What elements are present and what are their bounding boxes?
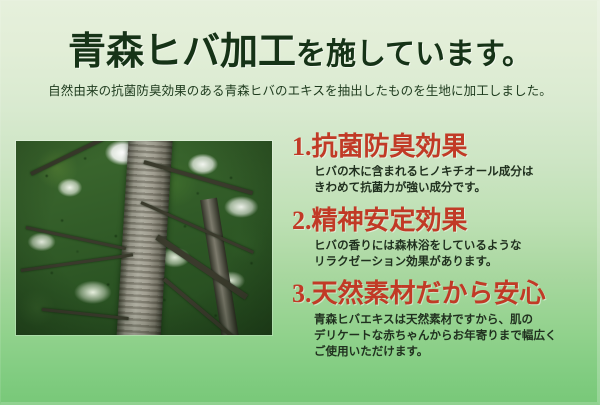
benefits-list: 1.抗菌防臭効果 ヒバの木に含まれるヒノキチオール成分は きわめて抗菌力が強い成… (292, 133, 596, 361)
benefit-number-2: 2. (292, 206, 312, 235)
benefit-number-3: 3. (292, 279, 312, 308)
photo-vignette (16, 141, 272, 335)
benefit-item-1: 1.抗菌防臭効果 ヒバの木に含まれるヒノキチオール成分は きわめて抗菌力が強い成… (292, 133, 596, 197)
benefit-body-3: 青森ヒバエキスは天然素材ですから、肌の デリケートな赤ちゃんからお年寄りまで幅広… (314, 312, 596, 361)
hiba-tree-photo (16, 141, 272, 335)
benefit-title-1: 抗菌防臭効果 (312, 132, 468, 161)
page-title: 青森ヒバ加工を施しています。 (0, 0, 600, 71)
benefit-number-1: 1. (292, 132, 312, 161)
hiba-promo-banner: 青森ヒバ加工を施しています。 自然由来の抗菌防臭効果のある青森ヒバのエキスを抽出… (0, 0, 600, 405)
page-subtitle: 自然由来の抗菌防臭効果のある青森ヒバのエキスを抽出したものを生地に加工しました。 (0, 71, 600, 99)
benefit-title-2: 精神安定効果 (312, 206, 468, 235)
benefit-heading-2: 2.精神安定効果 (292, 207, 596, 235)
banner-header: 青森ヒバ加工を施しています。 自然由来の抗菌防臭効果のある青森ヒバのエキスを抽出… (0, 0, 600, 99)
benefit-item-2: 2.精神安定効果 ヒバの香りには森林浴をしているような リラクゼーション効果があ… (292, 207, 596, 271)
benefit-heading-3: 3.天然素材だから安心 (292, 280, 596, 308)
benefit-body-2: ヒバの香りには森林浴をしているような リラクゼーション効果があります。 (314, 238, 596, 271)
page-title-main: 青森ヒバ加工 (68, 31, 296, 73)
benefit-heading-1: 1.抗菌防臭効果 (292, 133, 596, 161)
benefit-body-1: ヒバの木に含まれるヒノキチオール成分は きわめて抗菌力が強い成分です。 (314, 164, 596, 197)
benefit-item-3: 3.天然素材だから安心 青森ヒバエキスは天然素材ですから、肌の デリケートな赤ち… (292, 280, 596, 360)
benefit-title-3: 天然素材だから安心 (312, 279, 546, 308)
page-title-tail: を施しています。 (296, 38, 532, 71)
